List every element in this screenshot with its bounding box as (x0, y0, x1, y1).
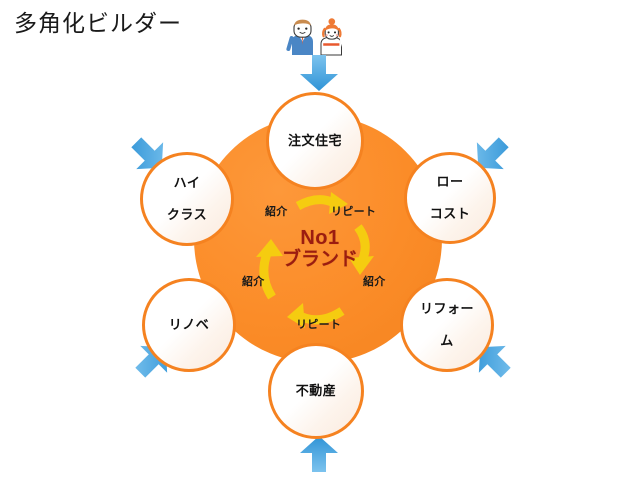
node-reform-line2: ム (414, 333, 480, 349)
node-high-class-line2: クラス (161, 207, 213, 223)
node-low-cost-label: ロー コスト (418, 174, 483, 222)
brand-line-2: ブランド (265, 249, 375, 270)
node-low-cost-line1: ロー (424, 174, 477, 190)
page-title: 多角化ビルダー (14, 8, 182, 38)
arrow-bottom (297, 434, 341, 474)
cycle-label-referral-right: 紹介 (363, 273, 386, 289)
cycle-label-repeat-bottom: リピート (296, 316, 341, 332)
node-reform-line1: リフォー (414, 301, 480, 317)
node-low-cost[interactable]: ロー コスト (404, 152, 496, 244)
cycle-label-repeat-top-right: リピート (331, 203, 376, 219)
node-high-class[interactable]: ハイ クラス (140, 152, 234, 246)
node-renovation[interactable]: リノベ (142, 278, 236, 372)
node-high-class-line1: ハイ (161, 175, 213, 191)
node-custom-home-label: 注文住宅 (282, 133, 348, 149)
node-renovation-label: リノベ (163, 317, 216, 333)
brand-text: No1 ブランド (265, 228, 375, 270)
node-low-cost-line2: コスト (424, 206, 477, 222)
node-reform[interactable]: リフォー ム (400, 278, 494, 372)
node-real-estate-label: 不動産 (290, 383, 343, 399)
diagram-canvas: 多角化ビルダー (0, 0, 636, 477)
brand-line-1: No1 (265, 228, 375, 249)
node-reform-label: リフォー ム (408, 301, 486, 349)
node-custom-home[interactable]: 注文住宅 (266, 92, 364, 190)
arrow-top (297, 53, 341, 93)
couple-illustration (285, 18, 351, 56)
node-real-estate[interactable]: 不動産 (268, 343, 364, 439)
cycle-label-referral-left: 紹介 (242, 273, 265, 289)
cycle-label-referral-top-left: 紹介 (265, 203, 288, 219)
node-high-class-label: ハイ クラス (155, 175, 219, 223)
